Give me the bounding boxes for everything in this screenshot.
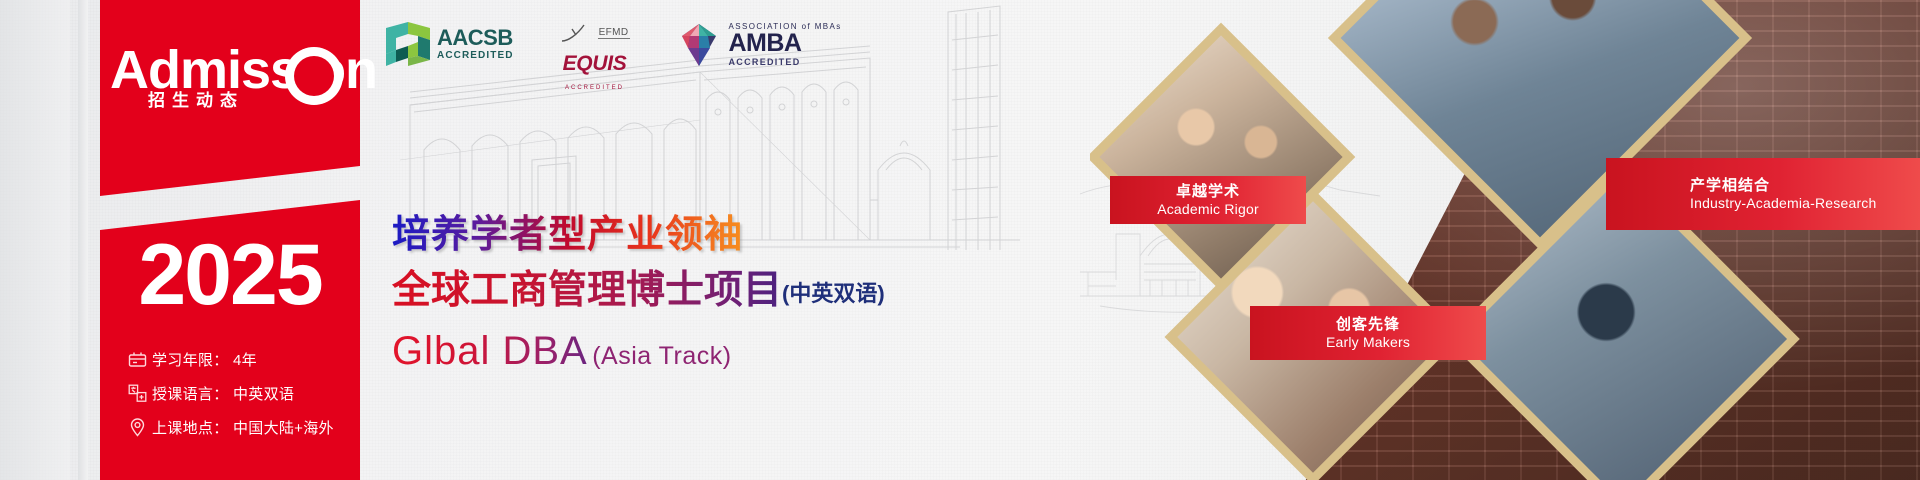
- background-stripe: [78, 0, 88, 480]
- info-row-duration: 学习年限： 4年: [124, 342, 364, 376]
- equis-name: EQUIS: [563, 52, 627, 76]
- headline-program-name-suffix: (中英双语): [782, 281, 885, 306]
- photo-label-academic-rigor: 卓越学术 Academic Rigor: [1110, 176, 1306, 224]
- accreditation-aacsb: AACSB ACCREDITED: [386, 22, 514, 66]
- admission-logo-chinese: 招生动态: [148, 86, 244, 111]
- amba-sub: ACCREDITED: [729, 58, 842, 67]
- year-heading: 2025: [100, 232, 360, 318]
- accreditation-equis: EFMD EQUIS ACCREDITED: [560, 22, 630, 91]
- accreditation-amba: ASSOCIATION of MBAs AMBA ACCREDITED: [676, 22, 842, 68]
- admission-banner: Admission 招生动态 2025 学习年限： 4年: [0, 0, 1920, 480]
- photo-label-early-makers: 创客先锋 Early Makers: [1250, 306, 1486, 360]
- left-red-panel: Admission 招生动态 2025 学习年限： 4年: [100, 0, 360, 480]
- program-info-list: 学习年限： 4年 授课语言： 中英双语: [124, 342, 364, 444]
- label-cn-industry-academia: 产学相结合: [1690, 177, 1770, 194]
- calendar-icon: [124, 349, 150, 369]
- label-en-early-makers: Early Makers: [1326, 334, 1410, 350]
- location-pin-icon: [124, 417, 150, 437]
- info-text-location: 上课地点： 中国大陆+海外: [150, 417, 334, 438]
- aacsb-logo-icon: [386, 22, 430, 66]
- efmd-label: EFMD: [598, 27, 630, 39]
- headline-program-name: 全球工商管理博士项目(中英双语): [392, 268, 885, 317]
- accreditation-logo-row: AACSB ACCREDITED EFMD EQUIS ACCREDITED: [386, 22, 842, 91]
- equis-sub: ACCREDITED: [565, 85, 624, 91]
- language-icon: [124, 383, 150, 403]
- admission-logo: Admission 招生动态: [100, 42, 360, 132]
- headline-english-main: Glbal DBA: [392, 329, 588, 373]
- label-cn-early-makers: 创客先锋: [1336, 316, 1400, 333]
- aacsb-sub: ACCREDITED: [437, 51, 514, 61]
- headline-program-english: Glbal DBA (Asia Track): [392, 329, 885, 374]
- label-en-academic-rigor: Academic Rigor: [1157, 201, 1259, 217]
- headline-tagline: 培养学者型产业领袖: [392, 212, 885, 258]
- label-en-industry-academia: Industry-Academia-Research: [1690, 195, 1877, 211]
- background-stripe-edge: [0, 0, 70, 480]
- person-in-circle-icon: [285, 47, 343, 105]
- headline-block: 培养学者型产业领袖 全球工商管理博士项目(中英双语) Glbal DBA (As…: [392, 212, 885, 374]
- info-row-location: 上课地点： 中国大陆+海外: [124, 410, 364, 444]
- info-row-language: 授课语言： 中英双语: [124, 376, 364, 410]
- equis-swoosh-icon: [560, 22, 594, 44]
- aacsb-name: AACSB: [437, 27, 514, 49]
- amba-diamond-logo-icon: [676, 22, 722, 68]
- headline-english-suffix: (Asia Track): [592, 342, 731, 370]
- headline-program-name-text: 全球工商管理博士项目: [392, 269, 782, 312]
- amba-name: AMBA: [729, 31, 842, 56]
- info-text-language: 授课语言： 中英双语: [150, 383, 294, 404]
- photo-collage: 卓越学术 Academic Rigor 产学相结合 Industry-Acade…: [1090, 0, 1920, 480]
- photo-label-industry-academia: 产学相结合 Industry-Academia-Research: [1606, 158, 1920, 230]
- info-text-duration: 学习年限： 4年: [150, 349, 257, 370]
- label-cn-academic-rigor: 卓越学术: [1176, 183, 1240, 200]
